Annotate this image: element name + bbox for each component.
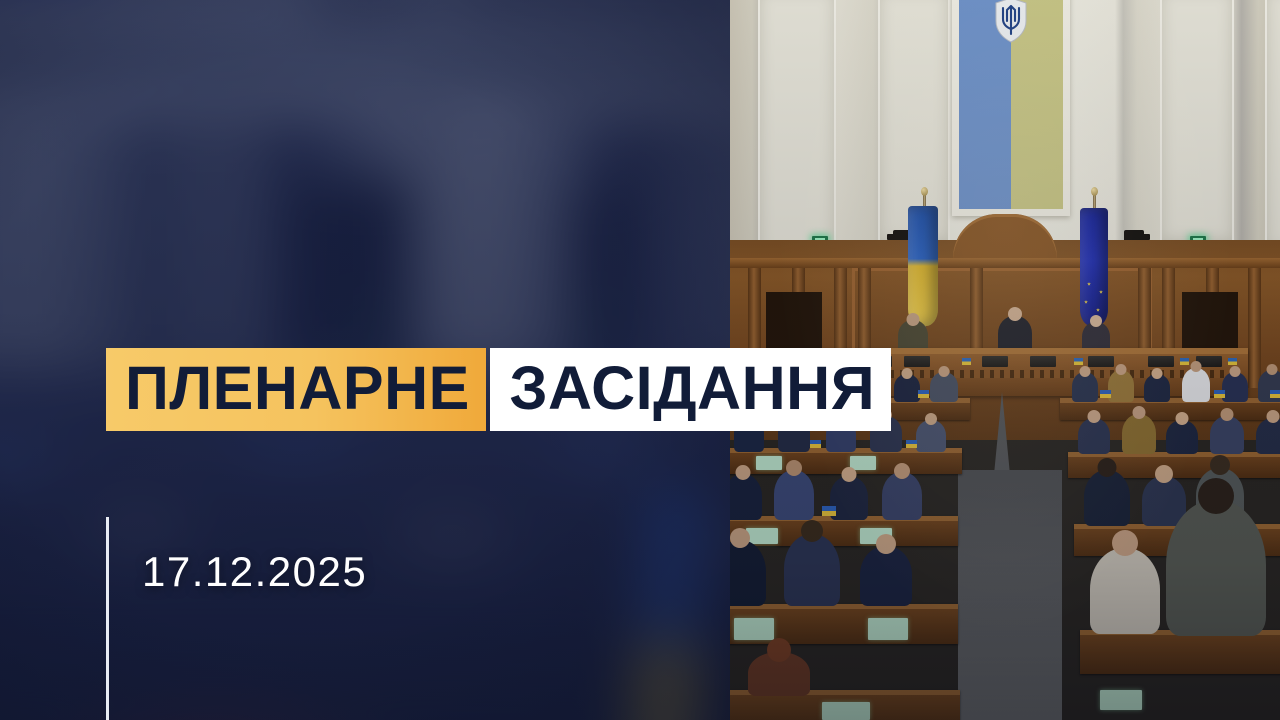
wall-panel bbox=[1160, 0, 1234, 242]
wall-panel bbox=[1265, 0, 1280, 250]
desk-flag-icon bbox=[1074, 358, 1083, 365]
date-vertical-rule bbox=[106, 517, 109, 720]
session-date: 17.12.2025 bbox=[142, 548, 367, 596]
central-aisle-floor bbox=[958, 470, 1062, 720]
ukrainian-vertical-flag bbox=[952, 0, 1070, 216]
tryzub-emblem-icon bbox=[993, 0, 1029, 43]
desk-monitor bbox=[1088, 356, 1114, 367]
wall-panel bbox=[758, 0, 836, 260]
rostrum-cornice bbox=[730, 258, 1280, 268]
desk-monitor bbox=[982, 356, 1008, 367]
desk-flag-icon bbox=[962, 358, 971, 365]
desk-monitor bbox=[1148, 356, 1174, 367]
title-line-1: ПЛЕНАРНЕ bbox=[106, 348, 486, 431]
desk-flag-icon bbox=[1228, 358, 1237, 365]
title-line-2: ЗАСІДАННЯ bbox=[490, 348, 891, 431]
desk-flag-icon bbox=[1180, 358, 1189, 365]
flag-field bbox=[959, 0, 1063, 209]
desk-monitor bbox=[904, 356, 930, 367]
title-block: ПЛЕНАРНЕ ЗАСІДАННЯ bbox=[106, 337, 891, 431]
broadcast-title-card: ПЛЕНАРНЕ ЗАСІДАННЯ 17.12.2025 bbox=[0, 0, 1280, 720]
desk-monitor bbox=[1030, 356, 1056, 367]
